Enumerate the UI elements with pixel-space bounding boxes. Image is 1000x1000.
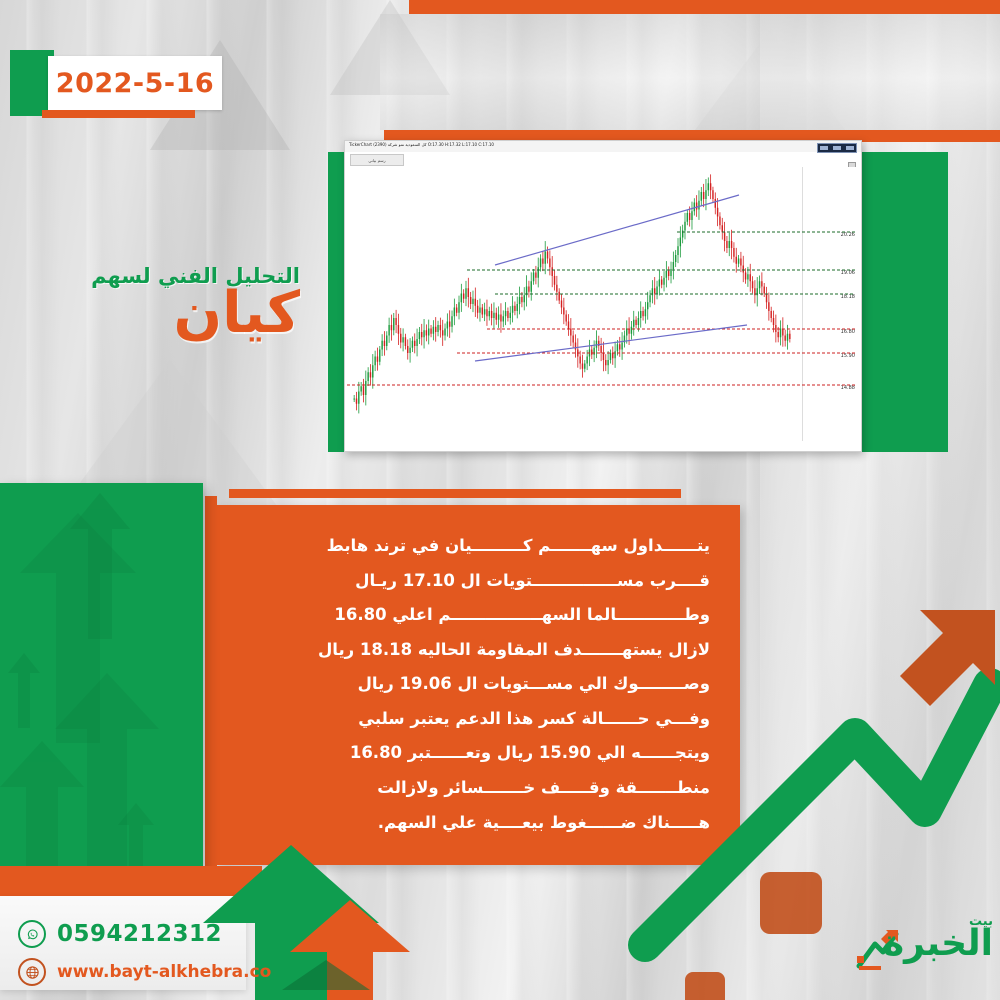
logo-text-large: الخبرة [883, 926, 993, 962]
decor-square-2 [685, 972, 725, 1000]
whatsapp-icon [18, 920, 46, 948]
title-stock-name: كيان [91, 286, 300, 340]
globe-glyph [25, 965, 40, 980]
decor-arrow-up-2 [70, 493, 130, 639]
minimize-icon[interactable] [820, 146, 828, 150]
analysis-line-1: يتــــــداول سهـــــــم كـــــــــيان في… [246, 533, 710, 559]
contact-phone[interactable]: 0594212312 [18, 920, 222, 948]
window-controls[interactable] [817, 143, 857, 153]
chart-title-text: TickerChart كل السعودية نمو شركة (2390) … [349, 142, 494, 147]
body-top-rule [229, 489, 681, 498]
sidebar-orange-strip [205, 496, 217, 895]
chart-overlay-lines [347, 167, 855, 441]
whatsapp-glyph [26, 928, 39, 941]
chart-plot-area [347, 167, 797, 441]
trendline-support [475, 325, 747, 361]
poster-canvas: 2022-5-16 التحليل الفني لسهم كيان Ticker… [0, 0, 1000, 1000]
close-icon[interactable] [846, 146, 854, 150]
contact-website[interactable]: www.bayt-alkhebra.co [18, 958, 271, 986]
decor-arrow-up-4 [8, 653, 40, 728]
chart-toolbar-button[interactable]: رسم بياني [350, 154, 404, 166]
green-decor-panel [0, 483, 203, 895]
analysis-line-2: قــــرب مســـــــــــــــتويات ال 17.10 … [246, 568, 710, 594]
big-green-arrow-shadow [282, 960, 370, 990]
chart-window: TickerChart كل السعودية نمو شركة (2390) … [344, 140, 862, 452]
globe-icon [18, 958, 46, 986]
top-accent-bar [409, 0, 1000, 14]
brand-logo: بيت الخبرة [855, 912, 995, 990]
decor-square-1 [760, 872, 822, 934]
header-panel [380, 14, 1000, 130]
date-badge: 2022-5-16 [48, 56, 222, 110]
date-text: 2022-5-16 [56, 68, 214, 99]
trendline-resistance [495, 195, 739, 265]
page-title: التحليل الفني لسهم كيان [91, 264, 300, 340]
website-url: www.bayt-alkhebra.co [57, 962, 271, 982]
date-underline [42, 110, 195, 118]
maximize-icon[interactable] [833, 146, 841, 150]
phone-number: 0594212312 [57, 921, 222, 947]
